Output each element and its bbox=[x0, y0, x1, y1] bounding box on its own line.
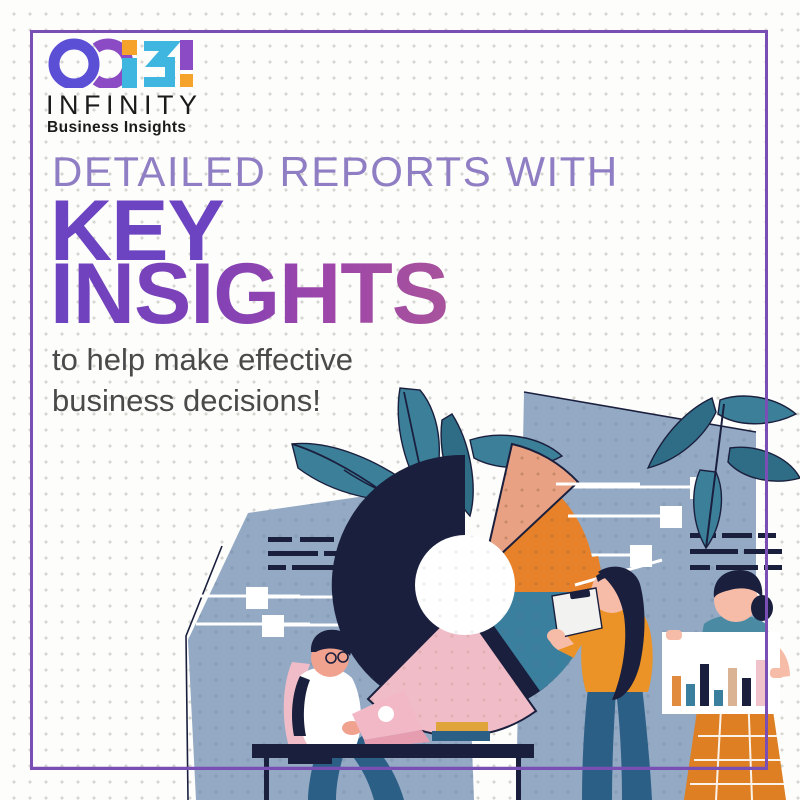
bar-chart-poster bbox=[662, 630, 784, 714]
headline-subhead: to help make effective business decision… bbox=[52, 340, 353, 422]
poster-canvas: INFINITY Business Insights DETAILED REPO… bbox=[0, 0, 800, 800]
infinity-i3-mark bbox=[44, 36, 234, 88]
headline-line-2: INSIGHTS bbox=[50, 255, 448, 334]
books bbox=[432, 722, 490, 741]
logo-name: INFINITY bbox=[46, 90, 203, 121]
logo[interactable]: INFINITY Business Insights bbox=[44, 36, 234, 136]
logo-tagline: Business Insights bbox=[47, 119, 186, 137]
